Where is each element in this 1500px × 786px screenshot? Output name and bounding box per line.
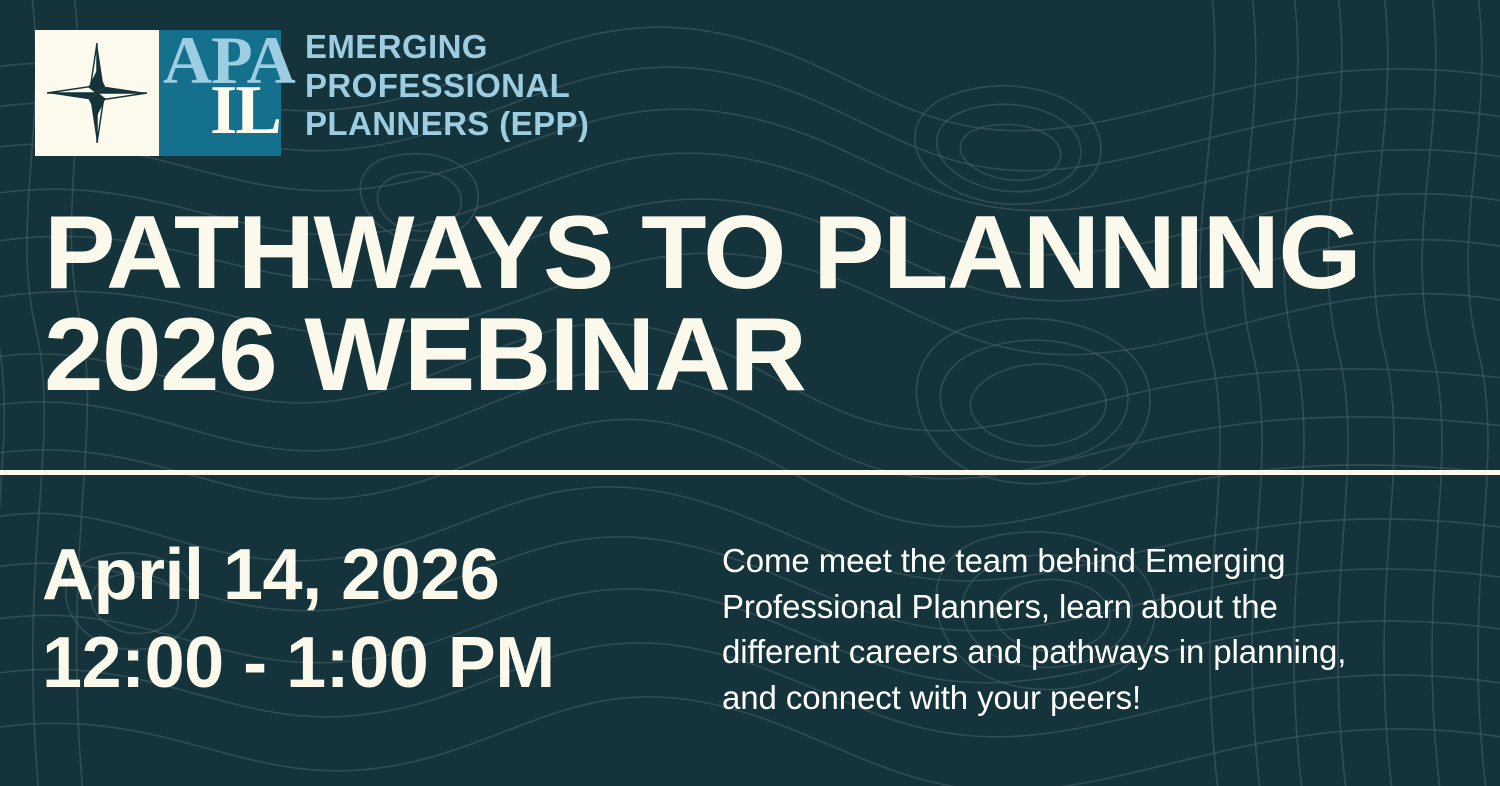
compass-star-icon bbox=[45, 41, 149, 145]
webinar-flyer: APA IL EMERGING PROFESSIONAL PLANNERS (E… bbox=[0, 0, 1500, 786]
event-details-section: April 14, 2026 12:00 - 1:00 PM Come meet… bbox=[0, 470, 1500, 786]
event-date: April 14, 2026 bbox=[42, 532, 555, 620]
il-wordmark: IL bbox=[210, 76, 280, 146]
event-datetime: April 14, 2026 12:00 - 1:00 PM bbox=[42, 532, 555, 708]
apa-il-wordmark-tile: APA IL bbox=[159, 30, 281, 156]
title-line-1: PATHWAYS TO PLANNING bbox=[44, 203, 1500, 305]
apa-il-logo-mark: APA IL bbox=[35, 30, 281, 156]
org-name-line-3: PLANNERS (EPP) bbox=[305, 105, 589, 144]
org-name-line-1: EMERGING bbox=[305, 28, 589, 67]
apa-il-epp-logo-lockup: APA IL EMERGING PROFESSIONAL PLANNERS (E… bbox=[35, 30, 589, 156]
title-line-2: 2026 WEBINAR bbox=[44, 305, 1500, 407]
event-time: 12:00 - 1:00 PM bbox=[42, 620, 555, 708]
org-name-line-2: PROFESSIONAL bbox=[305, 67, 589, 106]
epp-organization-name: EMERGING PROFESSIONAL PLANNERS (EPP) bbox=[305, 28, 589, 144]
page-title: PATHWAYS TO PLANNING 2026 WEBINAR bbox=[44, 203, 1500, 407]
event-description: Come meet the team behind Emerging Profe… bbox=[722, 538, 1402, 720]
compass-logo-tile bbox=[35, 30, 159, 156]
